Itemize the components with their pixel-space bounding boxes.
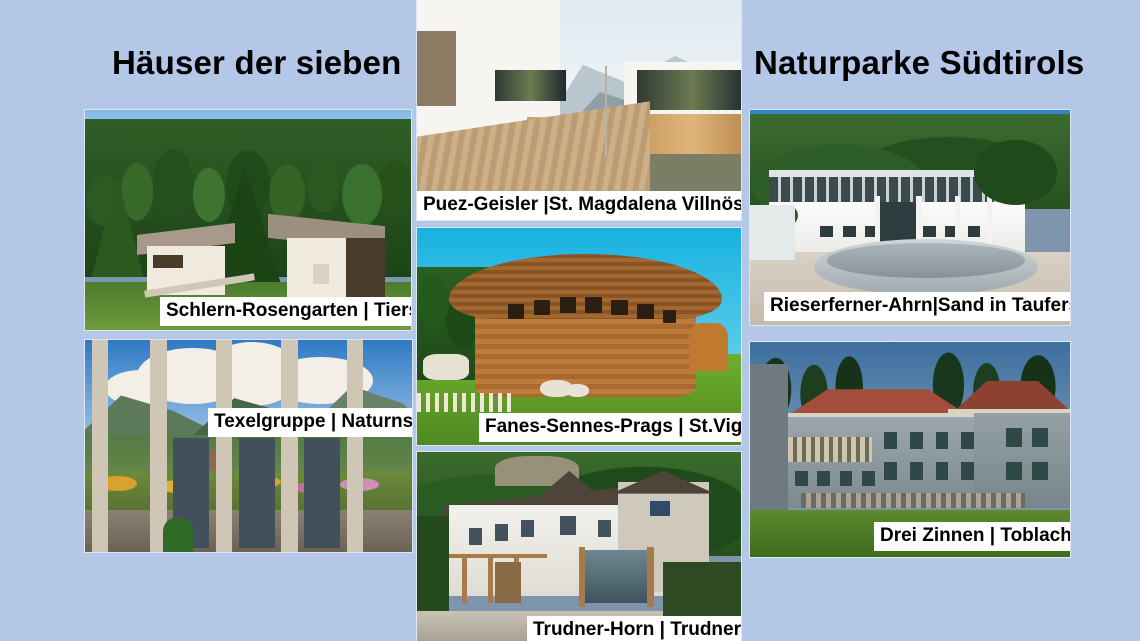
photo-schlern-rosengarten[interactable]: Schlern-Rosengarten | Tiers bbox=[85, 110, 411, 330]
page-title-right: Naturparke Südtirols bbox=[754, 44, 1084, 82]
caption-trudner-horn: Trudner-Horn | Trudner bbox=[527, 616, 741, 641]
scene-puez-modern-building bbox=[417, 0, 741, 220]
slide-canvas: Häuser der sieben Naturparke Südtirols S… bbox=[0, 0, 1140, 641]
caption-schlern-rosengarten: Schlern-Rosengarten | Tiers bbox=[160, 297, 411, 326]
photo-texelgruppe[interactable]: Texelgruppe | Naturns bbox=[85, 340, 412, 552]
caption-puez-geisler: Puez-Geisler |St. Magdalena Villnöss bbox=[417, 191, 741, 220]
photo-rieserferner-ahrn[interactable]: Rieserferner-Ahrn|Sand in Taufers bbox=[750, 110, 1070, 325]
photo-fanes-sennes-prags[interactable]: Fanes-Sennes-Prags | St.Vigil bbox=[417, 228, 741, 445]
page-title-left: Häuser der sieben bbox=[112, 44, 402, 82]
caption-rieserferner-ahrn: Rieserferner-Ahrn|Sand in Taufers bbox=[764, 292, 1070, 321]
photo-puez-geisler[interactable]: Puez-Geisler |St. Magdalena Villnöss bbox=[417, 0, 741, 220]
scene-trudner-building bbox=[417, 452, 741, 641]
caption-texelgruppe: Texelgruppe | Naturns bbox=[208, 408, 412, 437]
scene-texel-mountains bbox=[85, 340, 412, 552]
caption-drei-zinnen: Drei Zinnen | Toblach bbox=[874, 522, 1070, 551]
caption-fanes-sennes-prags: Fanes-Sennes-Prags | St.Vigil bbox=[479, 413, 741, 442]
photo-drei-zinnen[interactable]: Drei Zinnen | Toblach bbox=[750, 342, 1070, 557]
photo-trudner-horn[interactable]: Trudner-Horn | Trudner bbox=[417, 452, 741, 641]
